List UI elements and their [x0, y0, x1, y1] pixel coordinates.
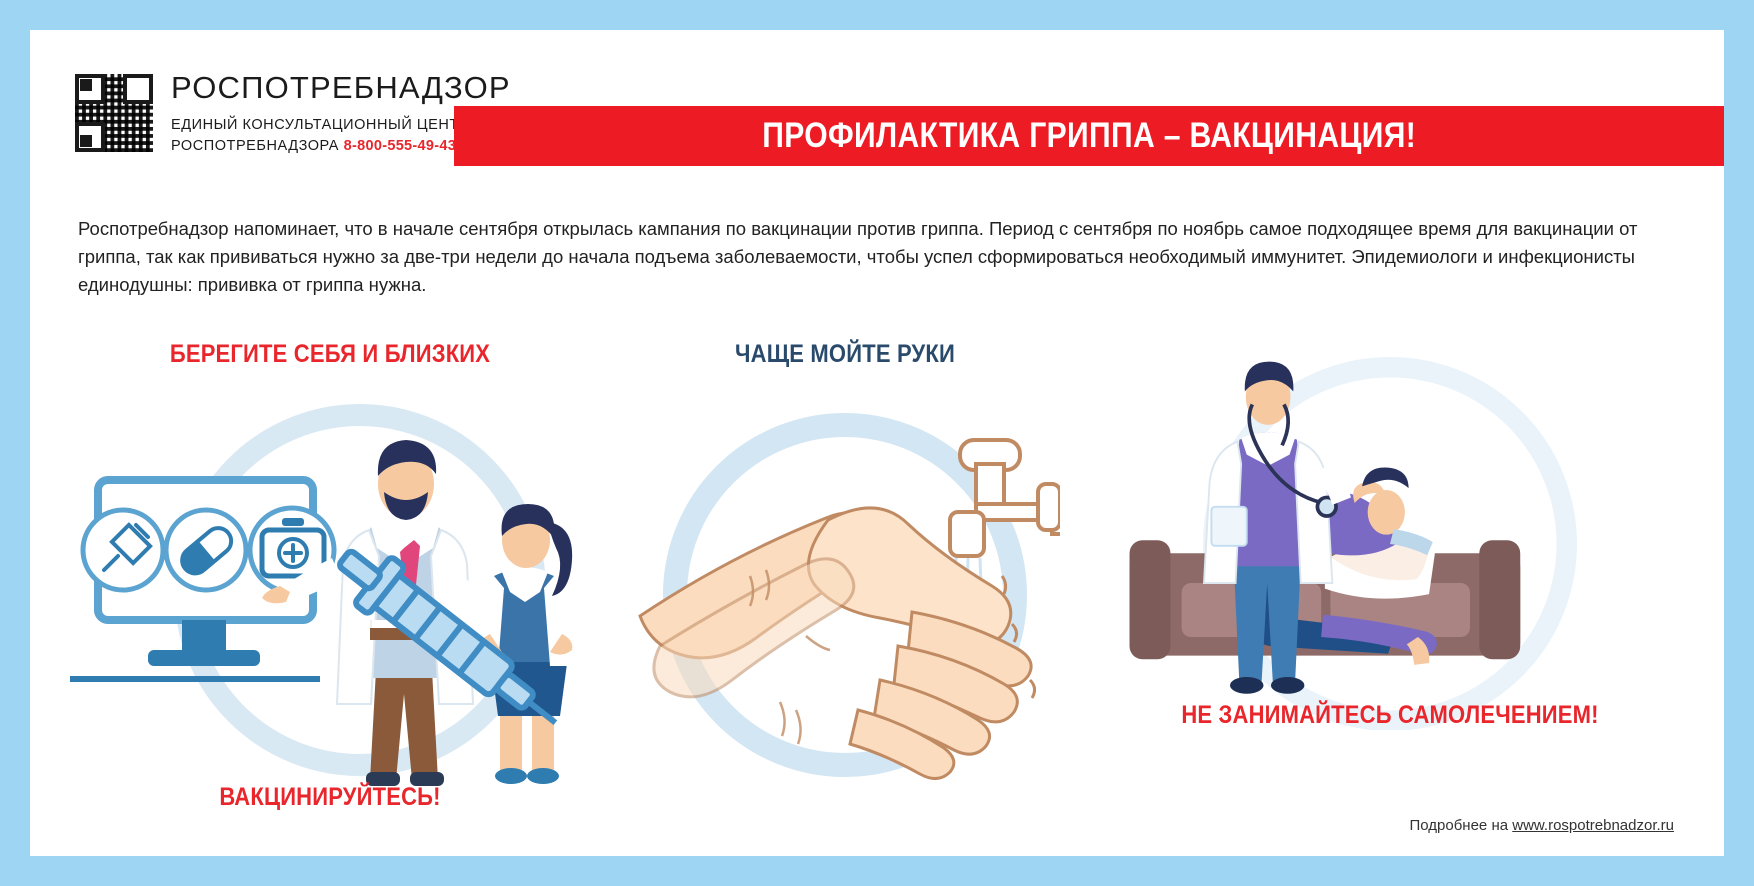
panel-handwash: ЧАЩЕ МОЙТЕ РУКИ [630, 330, 1060, 850]
panel-vaccination: БЕРЕГИТЕ СЕБЯ И БЛИЗКИХ [70, 330, 590, 850]
intro-paragraph-block: Роспотребнадзор напоминает, что в начале… [78, 215, 1678, 299]
panel-selfmedication-caption-bottom: НЕ ЗАНИМАЙТЕСЬ САМОЛЕЧЕНИЕМ! [1126, 701, 1654, 730]
footer-prefix: Подробнее на [1409, 817, 1512, 834]
doctor-and-patient-illustration [1090, 330, 1690, 730]
panels-row: БЕРЕГИТЕ СЕБЯ И БЛИЗКИХ [30, 330, 1724, 850]
panel-handwash-caption-top: ЧАЩЕ МОЙТЕ РУКИ [656, 340, 1034, 369]
syringe-icon [83, 510, 163, 590]
qr-code-icon [75, 74, 153, 152]
footer-url[interactable]: www.rospotrebnadzor.ru [1512, 817, 1674, 834]
hotline-phone[interactable]: 8-800-555-49-43 [344, 138, 457, 154]
banner-title: ПРОФИЛАКТИКА ГРИППА – ВАКЦИНАЦИЯ! [762, 116, 1416, 156]
footer-note: Подробнее на www.rospotrebnadzor.ru [1409, 817, 1674, 834]
intro-paragraph: Роспотребнадзор напоминает, что в начале… [78, 215, 1678, 299]
doctors-with-syringe-illustration [70, 380, 590, 810]
logo-block: РОСПОТРЕБНАДЗОР ЕДИНЫЙ КОНСУЛЬТАЦИОННЫЙ … [75, 70, 511, 157]
poster-card: РОСПОТРЕБНАДЗОР ЕДИНЫЙ КОНСУЛЬТАЦИОННЫЙ … [30, 30, 1724, 856]
panel-vaccination-caption-bottom: ВАКЦИНИРУЙТЕСЬ! [101, 783, 559, 812]
panel-selfmedication: НЕ ЗАНИМАЙТЕСЬ САМОЛЕЧЕНИЕМ! [1090, 330, 1690, 850]
consultation-center-org: РОСПОТРЕБНАДЗОРА [171, 138, 339, 154]
pill-icon [166, 510, 246, 590]
panel-vaccination-caption-top: БЕРЕГИТЕ СЕБЯ И БЛИЗКИХ [101, 340, 559, 369]
title-banner: ПРОФИЛАКТИКА ГРИППА – ВАКЦИНАЦИЯ! [454, 106, 1724, 166]
handwashing-illustration [630, 380, 1060, 810]
poster-header: РОСПОТРЕБНАДЗОР ЕДИНЫЙ КОНСУЛЬТАЦИОННЫЙ … [30, 30, 1724, 170]
brand-name: РОСПОТРЕБНАДЗОР [171, 72, 511, 103]
